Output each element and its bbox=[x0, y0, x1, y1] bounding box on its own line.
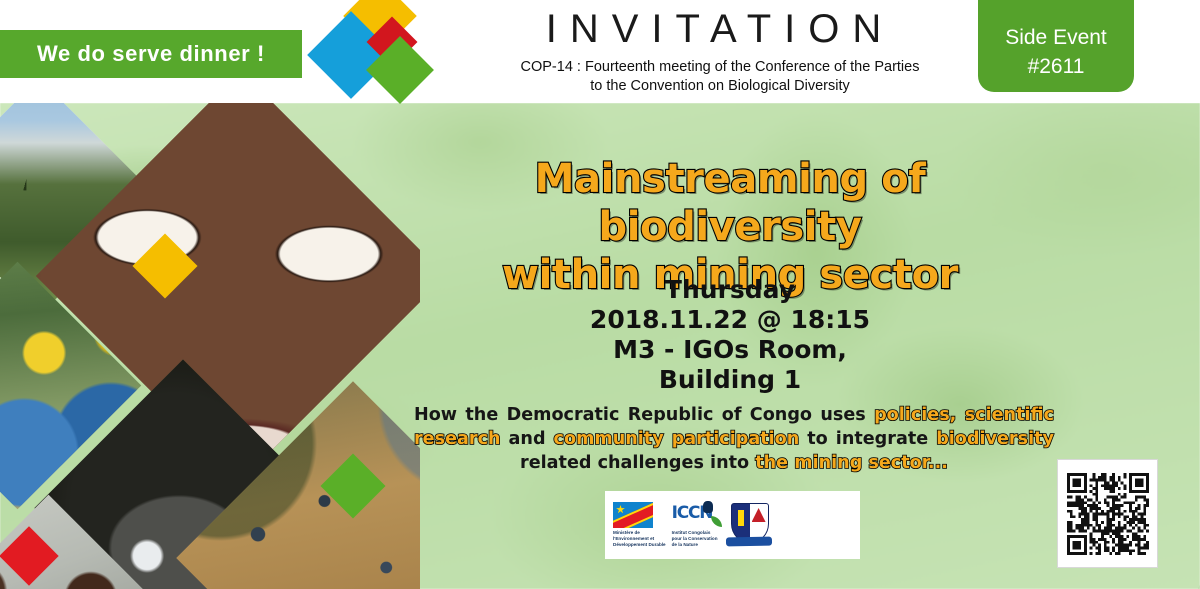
partner-logos: Ministère de l'Environnement et Développ… bbox=[605, 491, 860, 559]
side-event-label: Side Event bbox=[1005, 23, 1107, 52]
description-highlight: the mining sector... bbox=[755, 453, 948, 473]
header-band: We do serve dinner ! INVITATION COP-14 :… bbox=[0, 0, 1200, 103]
iccn-mark-icon: ICCN bbox=[672, 502, 720, 528]
cop-subtitle: COP-14 : Fourteenth meeting of the Confe… bbox=[440, 58, 1000, 96]
dinner-banner-label: We do serve dinner ! bbox=[37, 41, 265, 67]
drc-ministry-caption: Ministère de l'Environnement et Développ… bbox=[613, 530, 666, 548]
side-event-number: #2611 bbox=[1028, 52, 1085, 81]
cbd-diamond-logo bbox=[318, 2, 430, 98]
description-text: to integrate bbox=[799, 429, 936, 449]
description-highlight: community participation bbox=[554, 429, 800, 449]
event-day: Thursday bbox=[400, 275, 1060, 305]
side-event-badge: Side Event #2611 bbox=[978, 0, 1134, 92]
okapi-icon bbox=[703, 501, 713, 513]
leaf-icon bbox=[711, 516, 722, 527]
description-text: related challenges into bbox=[520, 453, 755, 473]
event-datetime: 2018.11.22 @ 18:15 bbox=[400, 305, 1060, 335]
event-schedule: Thursday 2018.11.22 @ 18:15 M3 - IGOs Ro… bbox=[400, 275, 1060, 395]
iccn-caption: Institut Congolais pour la Conservation … bbox=[672, 530, 720, 548]
event-room: M3 - IGOs Room, bbox=[400, 335, 1060, 365]
dinner-banner: We do serve dinner ! bbox=[0, 30, 302, 78]
drc-flag-icon bbox=[613, 502, 653, 528]
description-text: How the Democratic Republic of Congo use… bbox=[414, 405, 874, 425]
crest-shield-icon bbox=[726, 502, 772, 548]
invitation-heading: INVITATION bbox=[500, 6, 940, 52]
qr-code[interactable] bbox=[1057, 459, 1158, 568]
university-crest-logo bbox=[726, 502, 772, 548]
drc-ministry-logo: Ministère de l'Environnement et Développ… bbox=[613, 502, 666, 548]
photo-collage bbox=[0, 103, 420, 589]
description-text: and bbox=[501, 429, 554, 449]
event-building: Building 1 bbox=[400, 365, 1060, 395]
iccn-logo: ICCN Institut Congolais pour la Conserva… bbox=[672, 502, 720, 548]
event-title-line-1: Mainstreaming of biodiversity bbox=[400, 155, 1060, 251]
qr-code-graphic bbox=[1067, 473, 1149, 555]
event-description: How the Democratic Republic of Congo use… bbox=[414, 403, 1054, 475]
description-highlight: biodiversity bbox=[936, 429, 1054, 449]
invitation-poster: We do serve dinner ! INVITATION COP-14 :… bbox=[0, 0, 1200, 589]
